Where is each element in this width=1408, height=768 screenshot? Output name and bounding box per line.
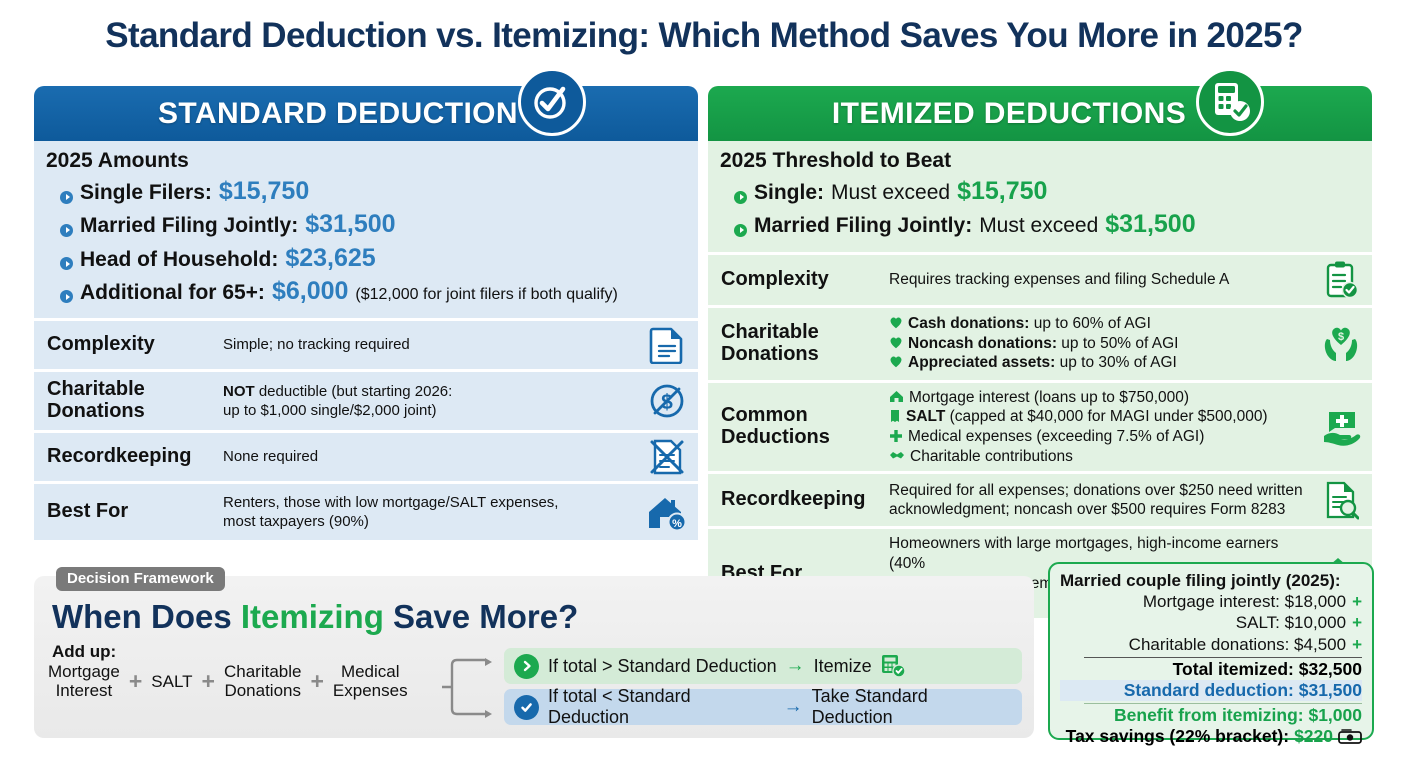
chevron-bullet-icon: [60, 257, 73, 270]
standard-deduction-panel: STANDARD DEDUCTION 2025 Amounts Single F…: [34, 86, 698, 543]
item-text: up to 50% of AGI: [1057, 335, 1179, 352]
no-document-icon: [644, 438, 690, 476]
divider: [1084, 703, 1362, 704]
handshake-icon: [889, 449, 905, 461]
standard-deduction-header: STANDARD DEDUCTION: [34, 86, 698, 141]
filer-amount: $15,750: [219, 175, 309, 208]
row-label: Charitable Donations: [721, 322, 889, 365]
receipt-icon: [889, 409, 901, 423]
framework-title-part1: When Does: [52, 598, 241, 635]
framework-title: When Does Itemizing Save More?: [52, 598, 578, 636]
heart-icon: [889, 316, 903, 329]
threshold-label: Single:: [754, 179, 824, 207]
example-line: Mortgage interest: $18,000 +: [1060, 591, 1362, 612]
table-row: Complexity Simple; no tracking required: [34, 321, 698, 369]
example-title: Married couple filing jointly (2025):: [1060, 571, 1362, 591]
standard-feature-rows: Complexity Simple; no tracking required …: [34, 321, 698, 540]
plus-operator: +: [129, 668, 142, 695]
plus-operator: +: [1352, 612, 1362, 633]
table-row: Complexity Requires tracking expenses an…: [708, 255, 1372, 305]
row-value: Simple; no tracking required: [223, 335, 644, 354]
itemized-deductions-header-label: ITEMIZED DEDUCTIONS: [832, 97, 1186, 131]
threshold-prefix: Must exceed: [979, 212, 1098, 240]
money-icon: [1338, 729, 1362, 745]
filer-label: Additional for 65+:: [80, 279, 265, 307]
calculator-check-icon: [881, 654, 907, 678]
list-item: SALT (capped at $40,000 for MAGI under $…: [889, 407, 1318, 427]
filer-label: Head of Household:: [80, 246, 278, 274]
chevron-bullet-icon: [60, 224, 73, 237]
infographic-root: Standard Deduction vs. Itemizing: Which …: [0, 0, 1408, 768]
outcome-itemize[interactable]: If total > Standard Deduction → Itemize: [504, 648, 1022, 684]
row-value-bold: NOT: [223, 383, 255, 400]
row-value: None required: [223, 447, 644, 466]
row-label: Best For: [47, 501, 223, 523]
chevron-circle-icon: [514, 654, 539, 679]
heart-icon: [889, 355, 903, 368]
framework-title-part2: Save More?: [384, 598, 578, 635]
filer-note: ($12,000 for joint filers if both qualif…: [355, 284, 617, 305]
check-circle-icon: [514, 695, 539, 720]
example-tax-savings-label: Tax savings (22% bracket):: [1066, 726, 1289, 747]
framework-title-highlight: Itemizing: [241, 598, 384, 635]
itemized-deductions-panel: ITEMIZED DEDUCTIONS 2025 Threshold to Be…: [708, 86, 1372, 621]
row-value: Mortgage interest (loans up to $750,000)…: [889, 388, 1318, 467]
threshold-prefix: Must exceed: [831, 179, 950, 207]
no-dollar-icon: $: [644, 382, 690, 420]
term-medical-expenses: MedicalExpenses: [333, 662, 408, 700]
arrow-icon: →: [786, 655, 805, 677]
row-value: NOT deductible (but starting 2026: up to…: [223, 382, 644, 420]
term-mortgage-interest: MortgageInterest: [48, 662, 120, 700]
itemized-deductions-header: ITEMIZED DEDUCTIONS: [708, 86, 1372, 141]
row-value-line2: acknowledgment; noncash over $500 requir…: [889, 500, 1318, 520]
row-label: Recordkeeping: [721, 489, 889, 511]
list-item: Head of Household: $23,625: [46, 242, 686, 275]
item-bold: Cash donations:: [908, 315, 1029, 332]
row-value: Requires tracking expenses and filing Sc…: [889, 270, 1318, 290]
table-row: Recordkeeping None required: [34, 433, 698, 481]
term-salt: SALT: [151, 672, 192, 691]
itemized-summary: 2025 Threshold to Beat Single: Must exce…: [708, 141, 1372, 252]
clipboard-check-icon: [1318, 260, 1364, 300]
standard-summary: 2025 Amounts Single Filers: $15,750 Marr…: [34, 141, 698, 318]
list-item: Married Filing Jointly: Must exceed $31,…: [720, 208, 1360, 241]
list-item: Additional for 65+: $6,000 ($12,000 for …: [46, 275, 686, 308]
example-tax-savings: Tax savings (22% bracket): $220: [1060, 726, 1362, 747]
branch-connector: [440, 654, 502, 720]
house-percent-icon: %: [644, 493, 690, 531]
list-item: Married Filing Jointly: $31,500: [46, 208, 686, 241]
outcome-condition: If total > Standard Deduction: [548, 656, 777, 677]
item-bold: Appreciated assets:: [908, 354, 1055, 371]
outcome-result: Take Standard Deduction: [812, 686, 1012, 728]
document-search-icon: [1318, 480, 1364, 520]
row-value-line1: deductible (but starting 2026:: [255, 383, 453, 400]
framework-outcomes: If total > Standard Deduction → Itemize: [504, 648, 1022, 730]
table-row: Best For Renters, those with low mortgag…: [34, 484, 698, 540]
row-label: Charitable Donations: [47, 379, 223, 422]
plus-icon: [889, 429, 903, 443]
chevron-bullet-icon: [734, 191, 747, 204]
example-standard-deduction: Standard deduction: $31,500: [1060, 680, 1362, 701]
row-label: Complexity: [47, 334, 223, 356]
item-bold: SALT: [906, 408, 945, 425]
filer-amount: $6,000: [272, 275, 348, 308]
row-label: Complexity: [721, 269, 889, 291]
document-icon: [644, 326, 690, 364]
row-value: Required for all expenses; donations ove…: [889, 481, 1318, 520]
page-title: Standard Deduction vs. Itemizing: Which …: [0, 16, 1408, 56]
row-value-line2: up to $1,000 single/$2,000 joint): [223, 401, 644, 420]
decision-framework-tag: Decision Framework: [56, 567, 225, 591]
row-value-line1: Required for all expenses; donations ove…: [889, 481, 1318, 501]
list-item: Appreciated assets: up to 30% of AGI: [889, 353, 1318, 373]
example-line-label: Mortgage interest: $18,000: [1143, 591, 1346, 612]
decision-framework: When Does Itemizing Save More? Add up: M…: [34, 576, 1034, 738]
list-item: Cash donations: up to 60% of AGI: [889, 314, 1318, 334]
itemized-summary-title: 2025 Threshold to Beat: [720, 149, 1360, 173]
row-label: Common Deductions: [721, 405, 889, 448]
filer-label: Married Filing Jointly:: [80, 212, 298, 240]
table-row: Charitable Donations Cash donations: up …: [708, 308, 1372, 380]
example-line-label: Charitable donations: $4,500: [1129, 634, 1346, 655]
outcome-result: Itemize: [814, 656, 872, 677]
example-box: Married couple filing jointly (2025): Mo…: [1048, 562, 1374, 740]
svg-text:%: %: [672, 518, 682, 530]
row-value: Cash donations: up to 60% of AGI Noncash…: [889, 314, 1318, 373]
threshold-amount: $31,500: [1105, 208, 1195, 241]
heart-hands-icon: $: [1318, 323, 1364, 365]
divider: [1084, 657, 1362, 658]
chevron-bullet-icon: [60, 290, 73, 303]
filer-amount: $23,625: [285, 242, 375, 275]
threshold-label: Married Filing Jointly:: [754, 212, 972, 240]
item-text: Mortgage interest (loans up to $750,000): [909, 388, 1189, 408]
item-text: (capped at $40,000 for MAGI under $500,0…: [945, 408, 1267, 425]
outcome-standard[interactable]: If total < Standard Deduction → Take Sta…: [504, 689, 1022, 725]
example-line-label: SALT: $10,000: [1236, 612, 1346, 633]
row-value-line1: Renters, those with low mortgage/SALT ex…: [223, 493, 644, 512]
list-item: Medical expenses (exceeding 7.5% of AGI): [889, 427, 1318, 447]
item-bold: Noncash donations:: [908, 335, 1057, 352]
table-row: Charitable Donations NOT deductible (but…: [34, 372, 698, 430]
arrow-icon: →: [784, 696, 803, 718]
example-line: Charitable donations: $4,500 +: [1060, 634, 1362, 655]
plus-operator: +: [1352, 634, 1362, 655]
chevron-bullet-icon: [734, 224, 747, 237]
item-text: up to 30% of AGI: [1055, 354, 1177, 371]
table-row: Recordkeeping Required for all expenses;…: [708, 474, 1372, 526]
medical-hand-icon: [1318, 406, 1364, 448]
list-item: Charitable contributions: [889, 447, 1318, 467]
threshold-amount: $15,750: [957, 175, 1047, 208]
svg-text:$: $: [1338, 331, 1344, 343]
list-item: Single: Must exceed $15,750: [720, 175, 1360, 208]
plus-operator: +: [202, 668, 215, 695]
filer-label: Single Filers:: [80, 179, 212, 207]
outcome-condition: If total < Standard Deduction: [548, 686, 775, 728]
plus-operator: +: [310, 668, 323, 695]
list-item: Single Filers: $15,750: [46, 175, 686, 208]
heart-icon: [889, 336, 903, 349]
row-value-line2: most taxpayers (90%): [223, 512, 644, 531]
example-tax-savings-value: $220: [1294, 726, 1333, 747]
item-text: up to 60% of AGI: [1029, 315, 1151, 332]
calculator-check-icon: [1196, 68, 1264, 136]
check-circle-icon: [518, 68, 586, 136]
standard-deduction-header-label: STANDARD DEDUCTION: [158, 97, 518, 131]
house-icon: [889, 390, 904, 403]
list-item: Mortgage interest (loans up to $750,000): [889, 388, 1318, 408]
example-benefit: Benefit from itemizing: $1,000: [1060, 705, 1362, 726]
row-label: Recordkeeping: [47, 446, 223, 468]
row-value: Renters, those with low mortgage/SALT ex…: [223, 493, 644, 531]
list-item: Noncash donations: up to 50% of AGI: [889, 334, 1318, 354]
item-text: Charitable contributions: [910, 447, 1073, 467]
plus-operator: +: [1352, 591, 1362, 612]
item-text: Medical expenses (exceeding 7.5% of AGI): [908, 427, 1204, 447]
example-line: SALT: $10,000 +: [1060, 612, 1362, 633]
filer-amount: $31,500: [305, 208, 395, 241]
standard-summary-title: 2025 Amounts: [46, 149, 686, 173]
chevron-bullet-icon: [60, 191, 73, 204]
table-row: Common Deductions Mortgage interest (loa…: [708, 383, 1372, 472]
addup-label: Add up:: [52, 642, 116, 662]
term-charitable-donations: CharitableDonations: [224, 662, 302, 700]
formula-terms: MortgageInterest + SALT + CharitableDona…: [48, 662, 408, 700]
example-total-itemized: Total itemized: $32,500: [1060, 659, 1362, 680]
